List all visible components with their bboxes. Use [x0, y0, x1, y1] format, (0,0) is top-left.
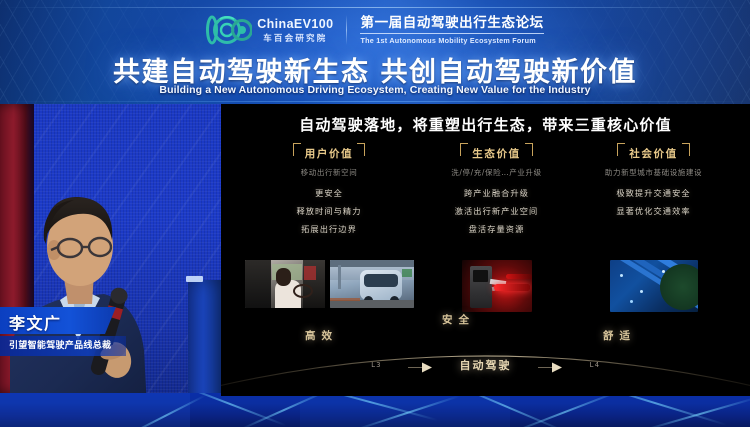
- bullet-item: 拓展出行边界: [239, 223, 419, 235]
- autonomous-shuttle-bus-photo: [330, 260, 414, 308]
- podium-marker: [186, 276, 203, 282]
- car-interior-photo: [245, 260, 325, 308]
- column-heading: 生态价值: [460, 146, 532, 161]
- arc-curve-icon: [221, 304, 750, 396]
- arc-word-efficiency: 高效: [305, 328, 338, 343]
- level-l3-label: L3: [371, 361, 381, 369]
- arc-word-comfort: 舒适: [603, 328, 636, 343]
- column-heading-text: 用户价值: [305, 148, 353, 160]
- bracket-left-icon: [460, 143, 468, 156]
- chinaev100-logo: ChinaEV100 车百会研究院: [206, 15, 333, 45]
- stage-floor: [0, 393, 750, 427]
- bullet-item: 盘活存量资源: [419, 223, 574, 235]
- bracket-right-icon: [682, 143, 690, 156]
- banner-logo-row: ChinaEV100 车百会研究院 第一届自动驾驶出行生态论坛 The 1st …: [0, 11, 750, 49]
- presentation-screen: 自动驾驶落地，将重塑出行生态，带来三重核心价值 用户价值 移动出行新空间 更安全…: [221, 104, 750, 396]
- slide-title: 自动驾驶落地，将重塑出行生态，带来三重核心价值: [221, 114, 750, 135]
- column-subtitle: 助力新型城市基础设施建设: [574, 167, 733, 178]
- brand-name: ChinaEV100: [257, 18, 333, 31]
- bracket-right-icon: [357, 143, 365, 156]
- forum-title-cn: 第一届自动驾驶出行生态论坛: [360, 16, 543, 30]
- bracket-left-icon: [293, 143, 301, 156]
- autonomy-level-row: L3 自动驾驶 L4: [221, 354, 750, 376]
- arrow-right-icon: [408, 360, 434, 371]
- banner-top-glow-line: [0, 7, 750, 8]
- broadcast-frame: ChinaEV100 车百会研究院 第一届自动驾驶出行生态论坛 The 1st …: [0, 0, 750, 427]
- slide-arc-section: 高效 安全 舒适 L3 自动驾驶 L4: [221, 304, 750, 396]
- bullet-item: 显著优化交通效率: [574, 205, 733, 217]
- speaker-role: 引望智能驾驶产品线总裁: [9, 338, 111, 351]
- column-image-row: [239, 260, 419, 308]
- event-banner: ChinaEV100 车百会研究院 第一届自动驾驶出行生态论坛 The 1st …: [0, 0, 750, 104]
- column-bullets: 极致提升交通安全 显著优化交通效率: [574, 187, 733, 217]
- level-l4-label: L4: [590, 361, 600, 369]
- logo-100-icon: [206, 15, 252, 45]
- autonomous-driving-label: 自动驾驶: [460, 357, 512, 373]
- column-bullets: 更安全 释放时间与精力 拓展出行边界: [239, 187, 419, 235]
- brand-institute: 车百会研究院: [257, 34, 333, 43]
- logo-divider: [346, 15, 347, 45]
- speaker-figure: [8, 154, 198, 427]
- banner-bottom-glow-line: [0, 101, 750, 102]
- column-subtitle: 洗/停/充/保险…产业升级: [419, 167, 574, 178]
- bracket-right-icon: [525, 143, 533, 156]
- chinaev100-wordmark: ChinaEV100 车百会研究院: [257, 18, 333, 42]
- forum-title-rule: [360, 33, 543, 34]
- column-heading: 社会价值: [617, 146, 689, 161]
- bullet-item: 激活出行新产业空间: [419, 205, 574, 217]
- bullet-item: 释放时间与精力: [239, 205, 419, 217]
- bullet-item: 极致提升交通安全: [574, 187, 733, 199]
- banner-headline-en: Building a New Autonomous Driving Ecosys…: [0, 84, 750, 96]
- bracket-left-icon: [617, 143, 625, 156]
- forum-title-block: 第一届自动驾驶出行生态论坛 The 1st Autonomous Mobilit…: [360, 16, 543, 44]
- bullet-item: 更安全: [239, 187, 419, 199]
- column-subtitle: 移动出行新空间: [239, 167, 419, 178]
- column-heading: 用户价值: [293, 146, 365, 161]
- column-heading-text: 社会价值: [629, 148, 677, 160]
- speaker-name: 李文广: [9, 310, 62, 334]
- bullet-item: 跨产业融合升级: [419, 187, 574, 199]
- arrow-right-icon: [538, 360, 564, 371]
- speaker-nameplate: 李文广 引望智能驾驶产品线总裁: [0, 307, 126, 359]
- forum-title-en: The 1st Autonomous Mobility Ecosystem Fo…: [360, 37, 543, 44]
- column-heading-text: 生态价值: [472, 148, 520, 160]
- arc-word-safety: 安全: [442, 312, 475, 327]
- column-bullets: 跨产业融合升级 激活出行新产业空间 盘活存量资源: [419, 187, 574, 235]
